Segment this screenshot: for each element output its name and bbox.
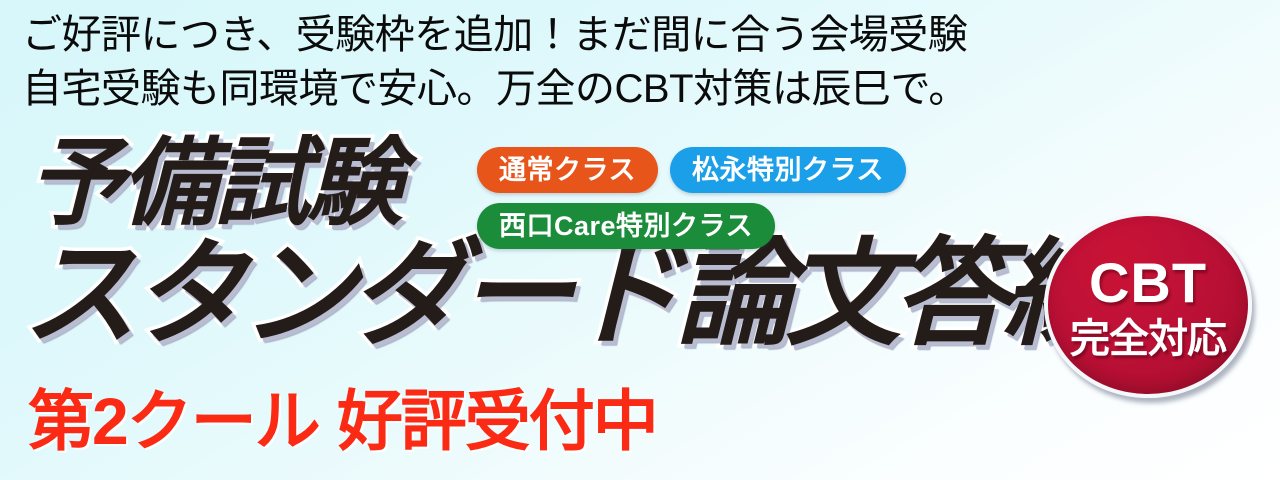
strapline-course: 第2クール bbox=[28, 384, 319, 458]
main-title-line-1: 予備試験 bbox=[28, 136, 400, 232]
pill-nishiguchi-care-class[interactable]: 西口Care特別クラス bbox=[477, 203, 775, 249]
cbt-seal-badge: CBT 完全対応 bbox=[1044, 212, 1252, 398]
pill-regular-class[interactable]: 通常クラス bbox=[477, 147, 658, 193]
cbt-seal-main-label: CBT bbox=[1089, 255, 1207, 311]
promo-banner: ご好評につき、受験枠を追加！まだ間に合う会場受験 自宅受験も同環境で安心。万全の… bbox=[0, 0, 1280, 480]
lead-copy-line-1: ご好評につき、受験枠を追加！まだ間に合う会場受験 bbox=[22, 8, 1202, 62]
class-badge-row-2: 西口Care特別クラス bbox=[477, 203, 997, 249]
class-badge-group: 通常クラス 松永特別クラス 西口Care特別クラス bbox=[477, 147, 997, 249]
strapline-status: 好評受付中 bbox=[337, 384, 657, 458]
main-title-line-2: スタンダード論文答練 bbox=[22, 236, 1112, 352]
cbt-seal-sub-label: 完全対応 bbox=[1070, 319, 1226, 359]
lead-copy-line-2: 自宅受験も同環境で安心。万全のCBT対策は辰巳で。 bbox=[22, 62, 1202, 116]
strapline: 第2クール好評受付中 bbox=[28, 388, 657, 454]
lead-copy: ご好評につき、受験枠を追加！まだ間に合う会場受験 自宅受験も同環境で安心。万全の… bbox=[22, 8, 1202, 116]
class-badge-row-1: 通常クラス 松永特別クラス bbox=[477, 147, 997, 193]
pill-matsunaga-class[interactable]: 松永特別クラス bbox=[670, 147, 906, 193]
